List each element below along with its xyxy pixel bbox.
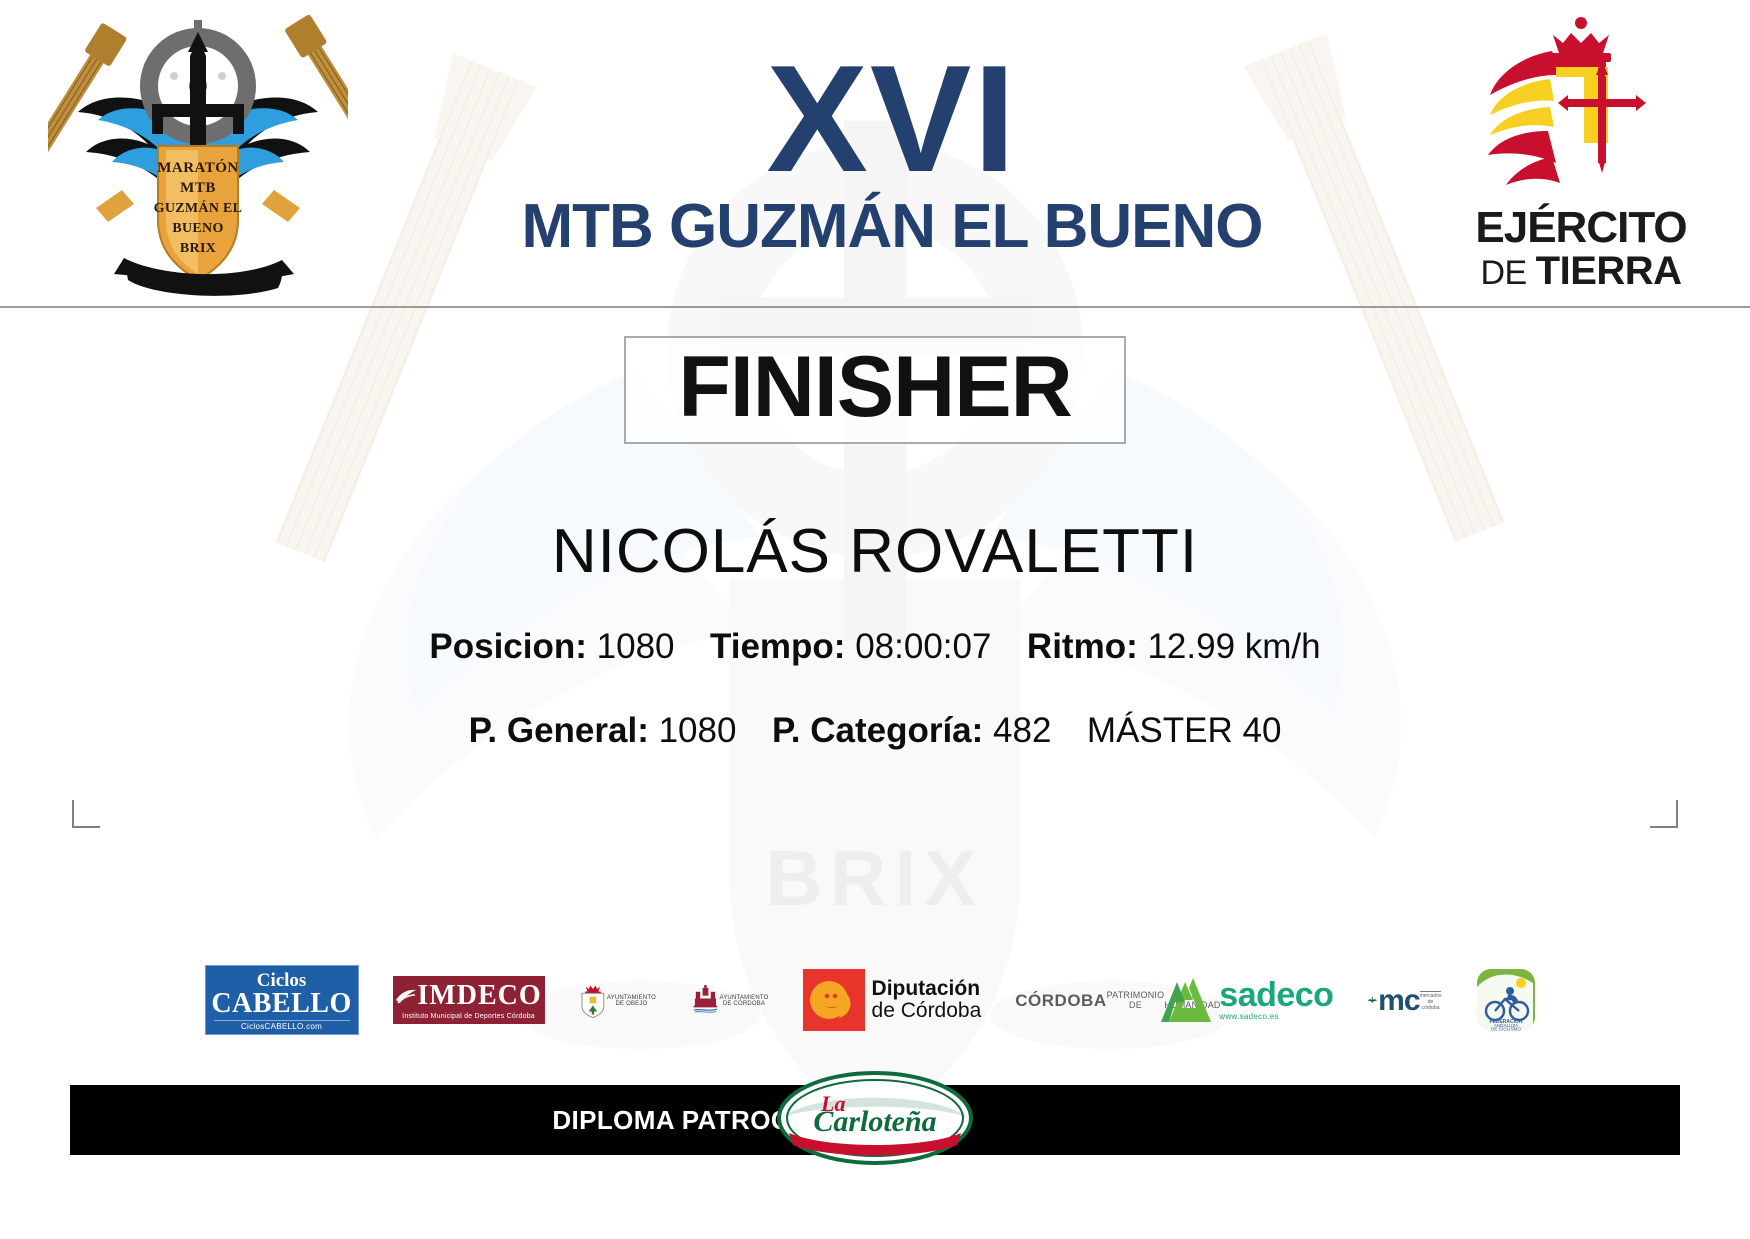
sponsor-ayuntamiento-cordoba: AYUNTAMIENTO DE CÓRDOBA	[691, 969, 769, 1031]
stat-value-p-general: 1080	[659, 711, 737, 750]
cordoba-city-icon	[691, 969, 720, 1031]
sponsor-ayuntamiento-obejo: AYUNTAMIENTO DE OBEJO	[579, 969, 657, 1031]
stat-label-tiempo: Tiempo:	[710, 627, 845, 666]
event-name: MTB GUZMÁN EL BUENO	[348, 194, 1436, 259]
imdeco-wing-icon	[395, 988, 417, 1005]
crop-mark-right	[1650, 800, 1678, 828]
finisher-label: FINISHER	[678, 342, 1071, 432]
stats-row-secondary: P. General: 1080 P. Categoría: 482 MÁSTE…	[0, 711, 1750, 751]
athlete-category: MÁSTER 40	[1087, 711, 1282, 750]
stat-value-ritmo: 12.99 km/h	[1147, 627, 1320, 666]
event-emblem: MARATÓN MTB GUZMÁN EL BUENO BRIX	[48, 8, 348, 298]
stats-row-primary: Posicion: 1080 Tiempo: 08:00:07 Ritmo: 1…	[0, 627, 1750, 667]
stat-label-ritmo: Ritmo:	[1027, 627, 1138, 666]
patrimonio-sub1: PATRIMONIO DE	[1107, 990, 1165, 1011]
sponsored-by-bar: DIPLOMA PATROCINADO POR : La Carloteña	[70, 1085, 1680, 1155]
ejercito-eagle-icon	[1456, 15, 1706, 197]
sponsor-row: Ciclos CABELLO CiclosCABELLO.com IMDECO …	[0, 965, 1750, 1035]
sponsor-federacion-andaluza-ciclismo: FEDERACIÓN ANDALUZA DE CICLISMO	[1475, 967, 1545, 1033]
svg-text:MTB: MTB	[180, 180, 216, 196]
carlotena-line2: Carloteña	[813, 1105, 936, 1138]
sadeco-mark-icon	[1159, 974, 1213, 1026]
obejo-coat-of-arms-icon	[579, 969, 607, 1031]
imdeco-subtitle: Instituto Municipal de Deportes Córdoba	[393, 1013, 545, 1020]
ejercito-line1: EJÉRCITO	[1456, 206, 1706, 250]
sponsor-ciclos-cabello: Ciclos CABELLO CiclosCABELLO.com	[205, 965, 359, 1035]
crop-mark-left	[72, 800, 100, 828]
ejercito-line2: DE TIERRA	[1456, 250, 1706, 292]
sponsor-mc: mc mercados de córdoba	[1367, 985, 1441, 1015]
cabello-line2: CABELLO	[206, 990, 358, 1018]
mc-leaf-icon	[1367, 985, 1378, 1015]
stat-label-p-categoria: P. Categoría:	[772, 711, 983, 750]
imdeco-name: IMDECO	[393, 982, 545, 1010]
ejercito-line2-prefix: DE	[1480, 254, 1526, 292]
stat-value-tiempo: 08:00:07	[855, 627, 991, 666]
diputacion-line1: Diputación	[872, 978, 982, 1000]
svg-text:BRIX: BRIX	[180, 241, 216, 256]
sponsor-sadeco: sadeco www.sadeco.es	[1159, 974, 1333, 1026]
sponsor-imdeco: IMDECO Instituto Municipal de Deportes C…	[393, 976, 545, 1024]
la-carlotena-logo: La Carloteña	[775, 1069, 975, 1167]
svg-text:DE CICLISMO: DE CICLISMO	[1492, 1027, 1522, 1032]
sadeco-name: sadeco	[1219, 979, 1333, 1011]
sponsor-cordoba-patrimonio: CÓRDOBA PATRIMONIO DE LA HUMANIDAD	[1015, 989, 1125, 1011]
svg-text:BRIX: BRIX	[766, 834, 984, 922]
cabello-url: CiclosCABELLO.com	[214, 1020, 350, 1031]
mc-subtitle: mercados de córdoba	[1420, 991, 1442, 1011]
svg-text:MARATÓN: MARATÓN	[157, 159, 239, 176]
athlete-block: NICOLÁS ROVALETTI Posicion: 1080 Tiempo:…	[0, 516, 1750, 751]
diputacion-line2: de Córdoba	[872, 1000, 982, 1022]
diputacion-mark-icon	[803, 969, 865, 1031]
event-title: XVI MTB GUZMÁN EL BUENO	[348, 47, 1456, 258]
stat-value-p-categoria: 482	[993, 711, 1051, 750]
athlete-name: NICOLÁS ROVALETTI	[0, 516, 1750, 587]
svg-text:GUZMÁN EL: GUZMÁN EL	[154, 199, 243, 216]
event-edition-roman: XVI	[348, 47, 1436, 191]
stat-value-posicion: 1080	[597, 627, 675, 666]
obejo-caption: AYUNTAMIENTO DE OBEJO	[606, 995, 656, 1007]
ejercito-de-tierra-logo: EJÉRCITO DE TIERRA	[1456, 15, 1706, 292]
svg-text:BUENO: BUENO	[172, 221, 223, 236]
finisher-banner: FINISHER	[0, 336, 1750, 444]
ejercito-line2-main: TIERRA	[1536, 249, 1682, 293]
federacion-cyclist-icon: FEDERACIÓN ANDALUZA DE CICLISMO	[1475, 967, 1537, 1033]
diploma-page: BRIX	[0, 0, 1750, 1239]
header: MARATÓN MTB GUZMÁN EL BUENO BRIX XVI MTB…	[0, 0, 1750, 308]
patrimonio-title: CÓRDOBA	[1015, 991, 1106, 1011]
finisher-box: FINISHER	[624, 336, 1125, 444]
sponsor-diputacion-cordoba: Diputación de Córdoba	[803, 969, 982, 1031]
cordoba-ayto-caption: AYUNTAMIENTO DE CÓRDOBA	[719, 995, 768, 1007]
stat-label-posicion: Posicion:	[429, 627, 587, 666]
mc-name: mc	[1378, 987, 1419, 1014]
stat-label-p-general: P. General:	[469, 711, 649, 750]
